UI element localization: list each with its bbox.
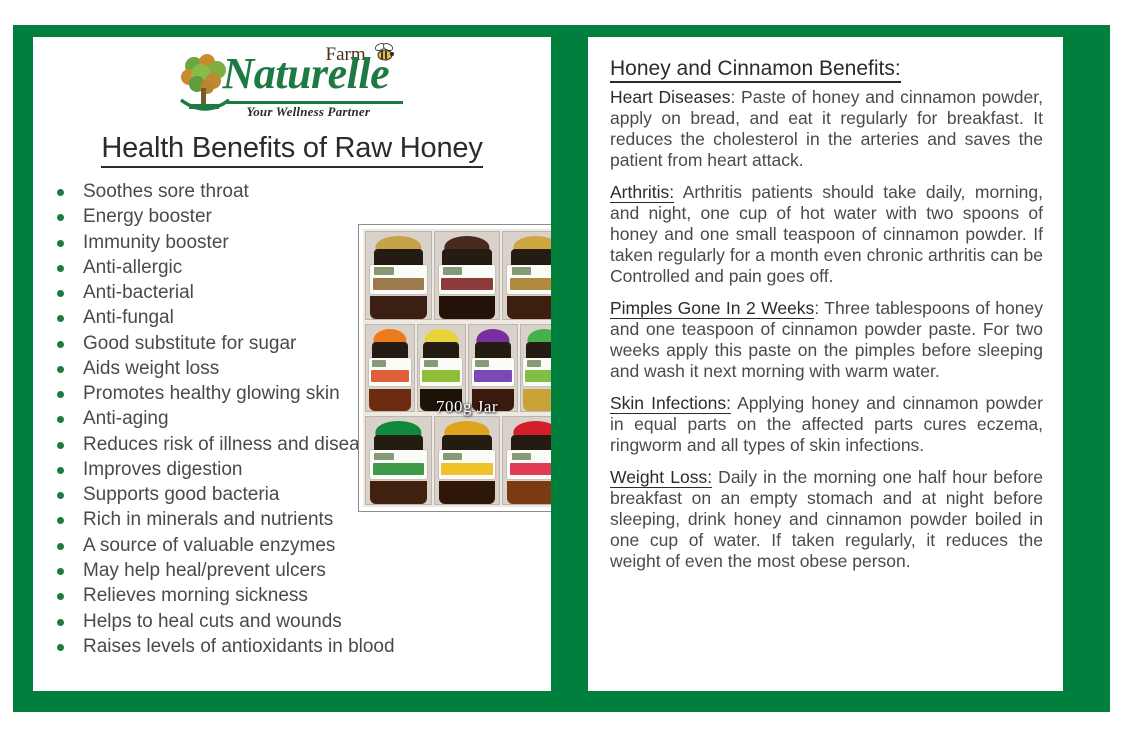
right-heading-text: Honey and Cinnamon Benefits: <box>610 57 901 83</box>
benefit-item: Raises levels of antioxidants in blood <box>47 634 551 659</box>
honey-jar <box>434 231 501 320</box>
jar-brand-mark <box>374 453 393 460</box>
jar-variant-band <box>422 370 460 382</box>
benefit-paragraph: Pimples Gone In 2 Weeks: Three tablespoo… <box>610 298 1043 382</box>
honey-jar <box>520 324 552 413</box>
benefit-body: Arthritis patients should take daily, mo… <box>610 182 1043 286</box>
honey-jar <box>468 324 518 413</box>
benefit-item: Soothes sore throat <box>47 179 551 204</box>
jar-variant-band <box>525 370 551 382</box>
jar-cap <box>423 342 459 359</box>
honey-jar <box>434 416 501 505</box>
honey-jar <box>502 416 551 505</box>
honey-jar <box>365 231 432 320</box>
jar-label <box>420 358 462 387</box>
jar-cap <box>526 342 551 359</box>
jar-label <box>439 265 496 294</box>
jar-honey-body <box>472 389 514 412</box>
benefit-term: Heart Diseases <box>610 87 730 107</box>
honey-jar <box>365 416 432 505</box>
jar-variant-band <box>474 370 512 382</box>
jar-brand-mark <box>512 453 531 460</box>
benefit-paragraph: Heart Diseases: Paste of honey and cinna… <box>610 87 1043 171</box>
product-photo: 700g Jar <box>358 224 551 512</box>
jar-label <box>472 358 514 387</box>
brand-logo: Farm Naturelle Your Wellness Partner <box>175 42 410 122</box>
jar-brand-mark <box>372 360 386 367</box>
jar-row <box>363 414 551 507</box>
jar-brand-mark <box>443 267 462 274</box>
jar-honey-body <box>439 481 496 504</box>
jar-label <box>523 358 551 387</box>
jar-label <box>370 450 427 479</box>
jar-variant-band <box>373 278 424 290</box>
benefit-sections: Heart Diseases: Paste of honey and cinna… <box>610 87 1043 572</box>
jar-honey-body <box>420 389 462 412</box>
right-heading: Honey and Cinnamon Benefits: <box>610 57 1043 81</box>
jar-honey-body <box>523 389 551 412</box>
brand-name: Naturelle <box>223 52 390 96</box>
benefit-item: May help heal/prevent ulcers <box>47 558 551 583</box>
jar-honey-body <box>369 389 411 412</box>
jar-brand-mark <box>424 360 438 367</box>
jar-honey-body <box>370 296 427 319</box>
honey-jar <box>417 324 467 413</box>
benefit-paragraph: Weight Loss: Daily in the morning one ha… <box>610 467 1043 572</box>
jar-brand-mark <box>374 267 393 274</box>
jar-honey-body <box>370 481 427 504</box>
jar-variant-band <box>510 463 551 475</box>
benefit-term: Arthritis: <box>610 182 674 203</box>
page-title: Health Benefits of Raw Honey <box>33 132 551 165</box>
honey-jar <box>365 324 415 413</box>
right-panel: Honey and Cinnamon Benefits: Heart Disea… <box>588 37 1063 691</box>
page-title-text: Health Benefits of Raw Honey <box>101 132 482 168</box>
jar-brand-mark <box>443 453 462 460</box>
jar-grid <box>363 229 551 507</box>
benefit-paragraph: Skin Infections: Applying honey and cinn… <box>610 393 1043 456</box>
jar-label <box>507 450 551 479</box>
benefit-paragraph: Arthritis: Arthritis patients should tak… <box>610 182 1043 287</box>
jar-label <box>439 450 496 479</box>
jar-variant-band <box>371 370 409 382</box>
benefit-term: Skin Infections: <box>610 393 731 414</box>
poster-root: Farm Naturelle Your Wellness Partner Hea… <box>0 0 1138 738</box>
benefit-term: Pimples Gone In 2 Weeks <box>610 298 814 319</box>
jar-label <box>507 265 551 294</box>
jar-label <box>370 265 427 294</box>
jar-brand-mark <box>512 267 531 274</box>
jar-variant-band <box>510 278 551 290</box>
jar-row <box>363 229 551 322</box>
brand-tagline: Your Wellness Partner <box>247 104 371 120</box>
benefit-item: A source of valuable enzymes <box>47 533 551 558</box>
jar-brand-mark <box>527 360 541 367</box>
jar-variant-band <box>441 463 492 475</box>
jar-variant-band <box>441 278 492 290</box>
left-panel: Farm Naturelle Your Wellness Partner Hea… <box>33 37 551 691</box>
jar-row <box>363 322 551 415</box>
honey-jar <box>502 231 551 320</box>
jar-label <box>369 358 411 387</box>
jar-cap <box>475 342 511 359</box>
jar-cap <box>372 342 408 359</box>
jar-honey-body <box>507 481 551 504</box>
jar-brand-mark <box>475 360 489 367</box>
jar-honey-body <box>439 296 496 319</box>
benefit-item: Helps to heal cuts and wounds <box>47 609 551 634</box>
benefit-item: Relieves morning sickness <box>47 583 551 608</box>
benefit-term: Weight Loss: <box>610 467 712 488</box>
jar-variant-band <box>373 463 424 475</box>
jar-honey-body <box>507 296 551 319</box>
